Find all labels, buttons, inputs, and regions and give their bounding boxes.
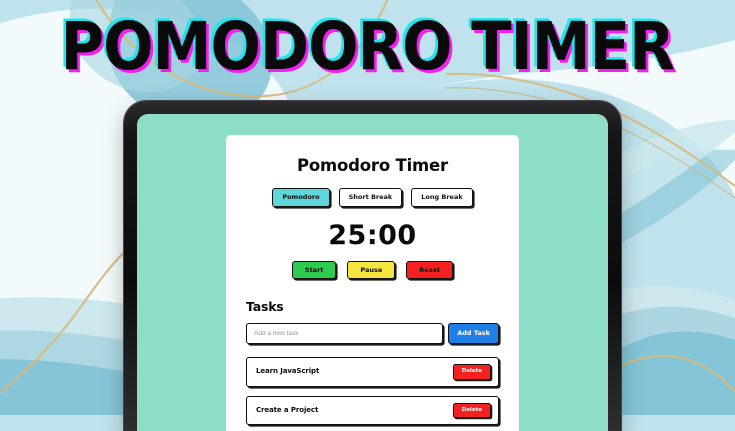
task-add-row: Add Task [246,323,499,344]
timer-controls: Start Pause Reset [246,261,499,280]
pause-button[interactable]: Pause [347,261,395,280]
app-title: Pomodoro Timer [246,156,499,175]
new-task-input[interactable] [246,323,443,344]
pomodoro-app-card: Pomodoro Timer Pomodoro Short Break Long… [226,135,519,431]
mode-tab-group: Pomodoro Short Break Long Break [246,188,499,207]
delete-task-button[interactable]: Delete [453,403,491,419]
tablet-screen: Pomodoro Timer Pomodoro Short Break Long… [137,114,608,431]
task-list-item[interactable]: Learn JavaScript Delete [246,357,499,387]
task-list-item[interactable]: Create a Project Delete [246,396,499,426]
add-task-button[interactable]: Add Task [448,323,499,344]
reset-button[interactable]: Reset [406,261,453,280]
tab-long-break[interactable]: Long Break [411,188,472,207]
tablet-device-frame: Pomodoro Timer Pomodoro Short Break Long… [124,101,621,431]
start-button[interactable]: Start [292,261,337,280]
task-label: Create a Project [256,407,318,414]
tab-pomodoro[interactable]: Pomodoro [272,188,329,207]
delete-task-button[interactable]: Delete [453,364,491,380]
tab-short-break[interactable]: Short Break [339,188,403,207]
task-label: Learn JavaScript [256,368,319,375]
tasks-heading: Tasks [246,299,499,314]
timer-display: 25:00 [246,222,499,249]
